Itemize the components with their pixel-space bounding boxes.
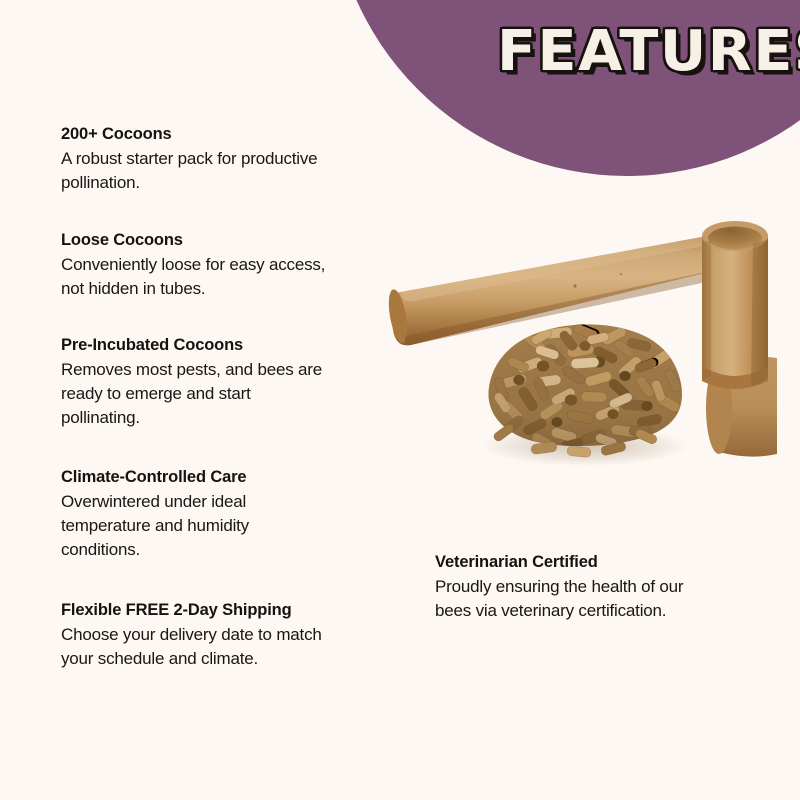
feature-heading: Veterinarian Certified	[435, 552, 775, 573]
vertical-kraft-tube	[702, 221, 768, 389]
feature-heading: Flexible FREE 2-Day Shipping	[61, 600, 406, 621]
feature-block-climate-control: Climate-Controlled Care Overwintered und…	[61, 467, 406, 562]
feature-graphic-canvas: FEATURES 200+ Cocoons A robust starter p…	[0, 0, 800, 800]
feature-block-veterinarian-certified: Veterinarian Certified Proudly ensuring …	[435, 552, 775, 623]
feature-heading: Loose Cocoons	[61, 230, 406, 251]
feature-body: Conveniently loose for easy access, not …	[61, 253, 406, 301]
feature-heading: Pre-Incubated Cocoons	[61, 335, 406, 356]
feature-body: Choose your delivery date to match your …	[61, 623, 406, 671]
feature-block-loose-cocoons: Loose Cocoons Conveniently loose for eas…	[61, 230, 406, 301]
feature-block-pre-incubated: Pre-Incubated Cocoons Removes most pests…	[61, 335, 406, 430]
feature-body: A robust starter pack for productive pol…	[61, 147, 406, 195]
feature-heading: Climate-Controlled Care	[61, 467, 406, 488]
feature-body: Removes most pests, and bees are ready t…	[61, 358, 406, 430]
feature-body: Overwintered under ideal temperature and…	[61, 490, 406, 562]
cocoon-pile	[480, 318, 695, 466]
feature-block-cocoon-count: 200+ Cocoons A robust starter pack for p…	[61, 124, 406, 195]
feature-heading: 200+ Cocoons	[61, 124, 406, 145]
feature-body: Proudly ensuring the health of our bees …	[435, 575, 775, 623]
product-photo	[385, 200, 800, 530]
feature-block-shipping: Flexible FREE 2-Day Shipping Choose your…	[61, 600, 406, 671]
page-title: FEATURES	[497, 24, 800, 80]
